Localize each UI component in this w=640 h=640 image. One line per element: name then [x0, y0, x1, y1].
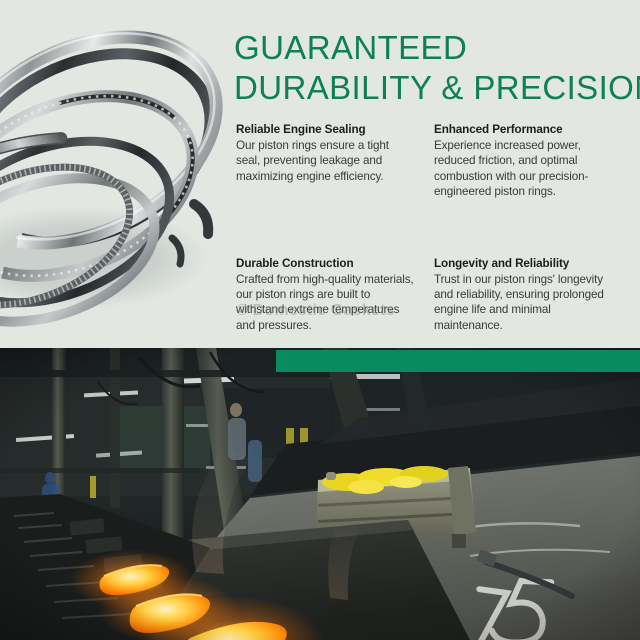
feature-body: Experience increased power, reduced fric… — [434, 138, 614, 200]
feature-body: Our piston rings ensure a tight seal, pr… — [236, 138, 416, 184]
headline-line-2: DURABILITY & PRECISION — [234, 68, 626, 108]
feature-title: Reliable Engine Sealing — [236, 122, 416, 137]
headline-line-1: GUARANTEED — [234, 28, 626, 68]
feature-title: Durable Construction — [236, 256, 416, 271]
feature-title: Longevity and Reliability — [434, 256, 614, 271]
top-content-panel: GUARANTEED DURABILITY & PRECISION Reliab… — [0, 0, 640, 348]
feature-title: Enhanced Performance — [434, 122, 614, 137]
feature-block-longevity-and-reliability: Longevity and Reliability Trust in our p… — [434, 256, 614, 334]
piston-rings-product-image — [0, 8, 238, 338]
factory-forge-photo — [0, 348, 640, 640]
headline: GUARANTEED DURABILITY & PRECISION — [234, 28, 626, 108]
green-accent-bar — [276, 350, 640, 372]
feature-body: Trust in our piston rings' longevity and… — [434, 272, 614, 334]
feature-block-durable-construction: Durable Construction Crafted from high-q… — [236, 256, 416, 334]
copyright-watermark: © Domestic Gaskets — [236, 302, 395, 320]
feature-block-enhanced-performance: Enhanced Performance Experience increase… — [434, 122, 614, 200]
product-feature-graphic: GUARANTEED DURABILITY & PRECISION Reliab… — [0, 0, 640, 640]
feature-block-reliable-engine-sealing: Reliable Engine Sealing Our piston rings… — [236, 122, 416, 200]
